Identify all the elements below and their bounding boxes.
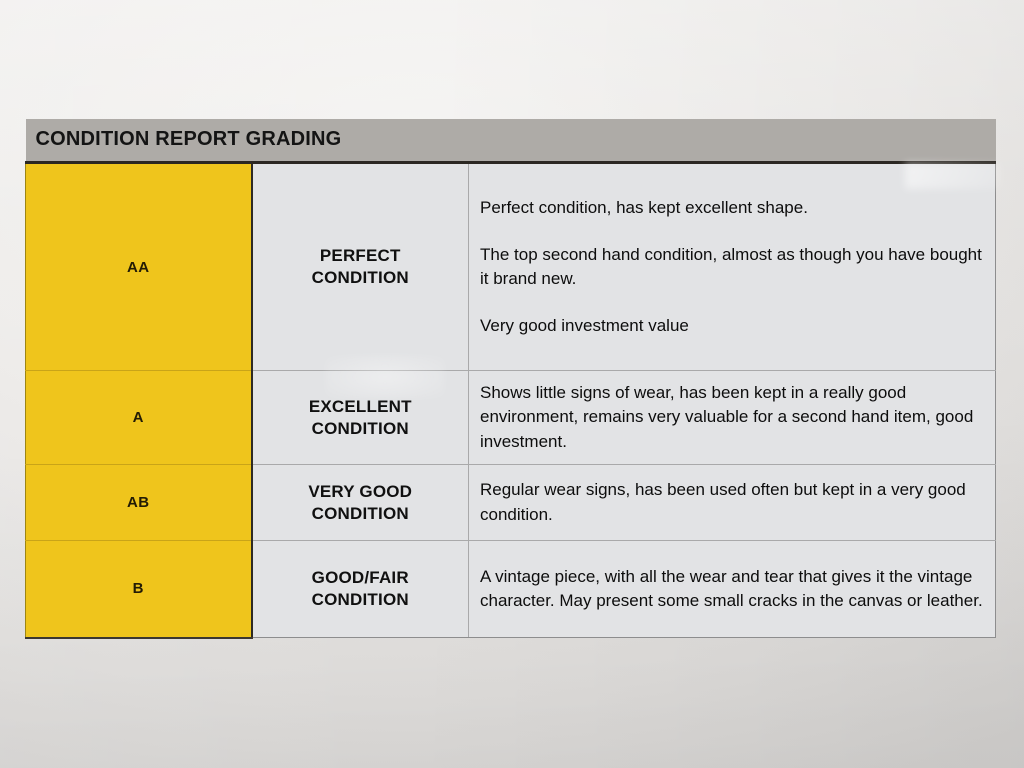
table-header-row: CONDITION REPORT GRADING (26, 119, 996, 163)
condition-description-a: Shows little signs of wear, has been kep… (469, 371, 996, 465)
table-body: AA PERFECT CONDITION Perfect condition, … (26, 163, 996, 638)
description-paragraph: Very good investment value (480, 314, 983, 338)
condition-label-line-1: PERFECT (320, 246, 401, 265)
grade-code-ab: AB (26, 465, 252, 541)
condition-label-aa: PERFECT CONDITION (252, 163, 469, 371)
condition-label-line-1: EXCELLENT (309, 397, 412, 416)
table-row: AA PERFECT CONDITION Perfect condition, … (26, 163, 996, 371)
condition-label-line-2: CONDITION (312, 590, 409, 609)
condition-label-line-2: CONDITION (312, 504, 409, 523)
condition-description-ab: Regular wear signs, has been used often … (469, 465, 996, 541)
condition-label-line-2: CONDITION (312, 419, 409, 438)
table-title: CONDITION REPORT GRADING (26, 119, 996, 163)
table-row: AB VERY GOOD CONDITION Regular wear sign… (26, 465, 996, 541)
condition-description-aa: Perfect condition, has kept excellent sh… (469, 163, 996, 371)
grade-code-b: B (26, 541, 252, 638)
description-paragraph: Perfect condition, has kept excellent sh… (480, 196, 983, 220)
condition-report-grading-table: CONDITION REPORT GRADING AA PERFECT COND… (25, 119, 996, 639)
condition-report-table-container: CONDITION REPORT GRADING AA PERFECT COND… (25, 119, 995, 639)
description-paragraph: A vintage piece, with all the wear and t… (480, 565, 983, 613)
table-row: A EXCELLENT CONDITION Shows little signs… (26, 371, 996, 465)
grade-code-aa: AA (26, 163, 252, 371)
condition-label-a: EXCELLENT CONDITION (252, 371, 469, 465)
condition-description-b: A vintage piece, with all the wear and t… (469, 541, 996, 638)
condition-label-ab: VERY GOOD CONDITION (252, 465, 469, 541)
condition-label-line-1: VERY GOOD (308, 482, 412, 501)
description-paragraph: Shows little signs of wear, has been kep… (480, 381, 983, 453)
condition-label-line-2: CONDITION (312, 268, 409, 287)
description-paragraph: Regular wear signs, has been used often … (480, 478, 983, 526)
condition-label-line-1: GOOD/FAIR (312, 568, 409, 587)
condition-label-b: GOOD/FAIR CONDITION (252, 541, 469, 638)
grade-code-a: A (26, 371, 252, 465)
table-row: B GOOD/FAIR CONDITION A vintage piece, w… (26, 541, 996, 638)
table-header: CONDITION REPORT GRADING (26, 119, 996, 163)
description-paragraph: The top second hand condition, almost as… (480, 243, 983, 291)
